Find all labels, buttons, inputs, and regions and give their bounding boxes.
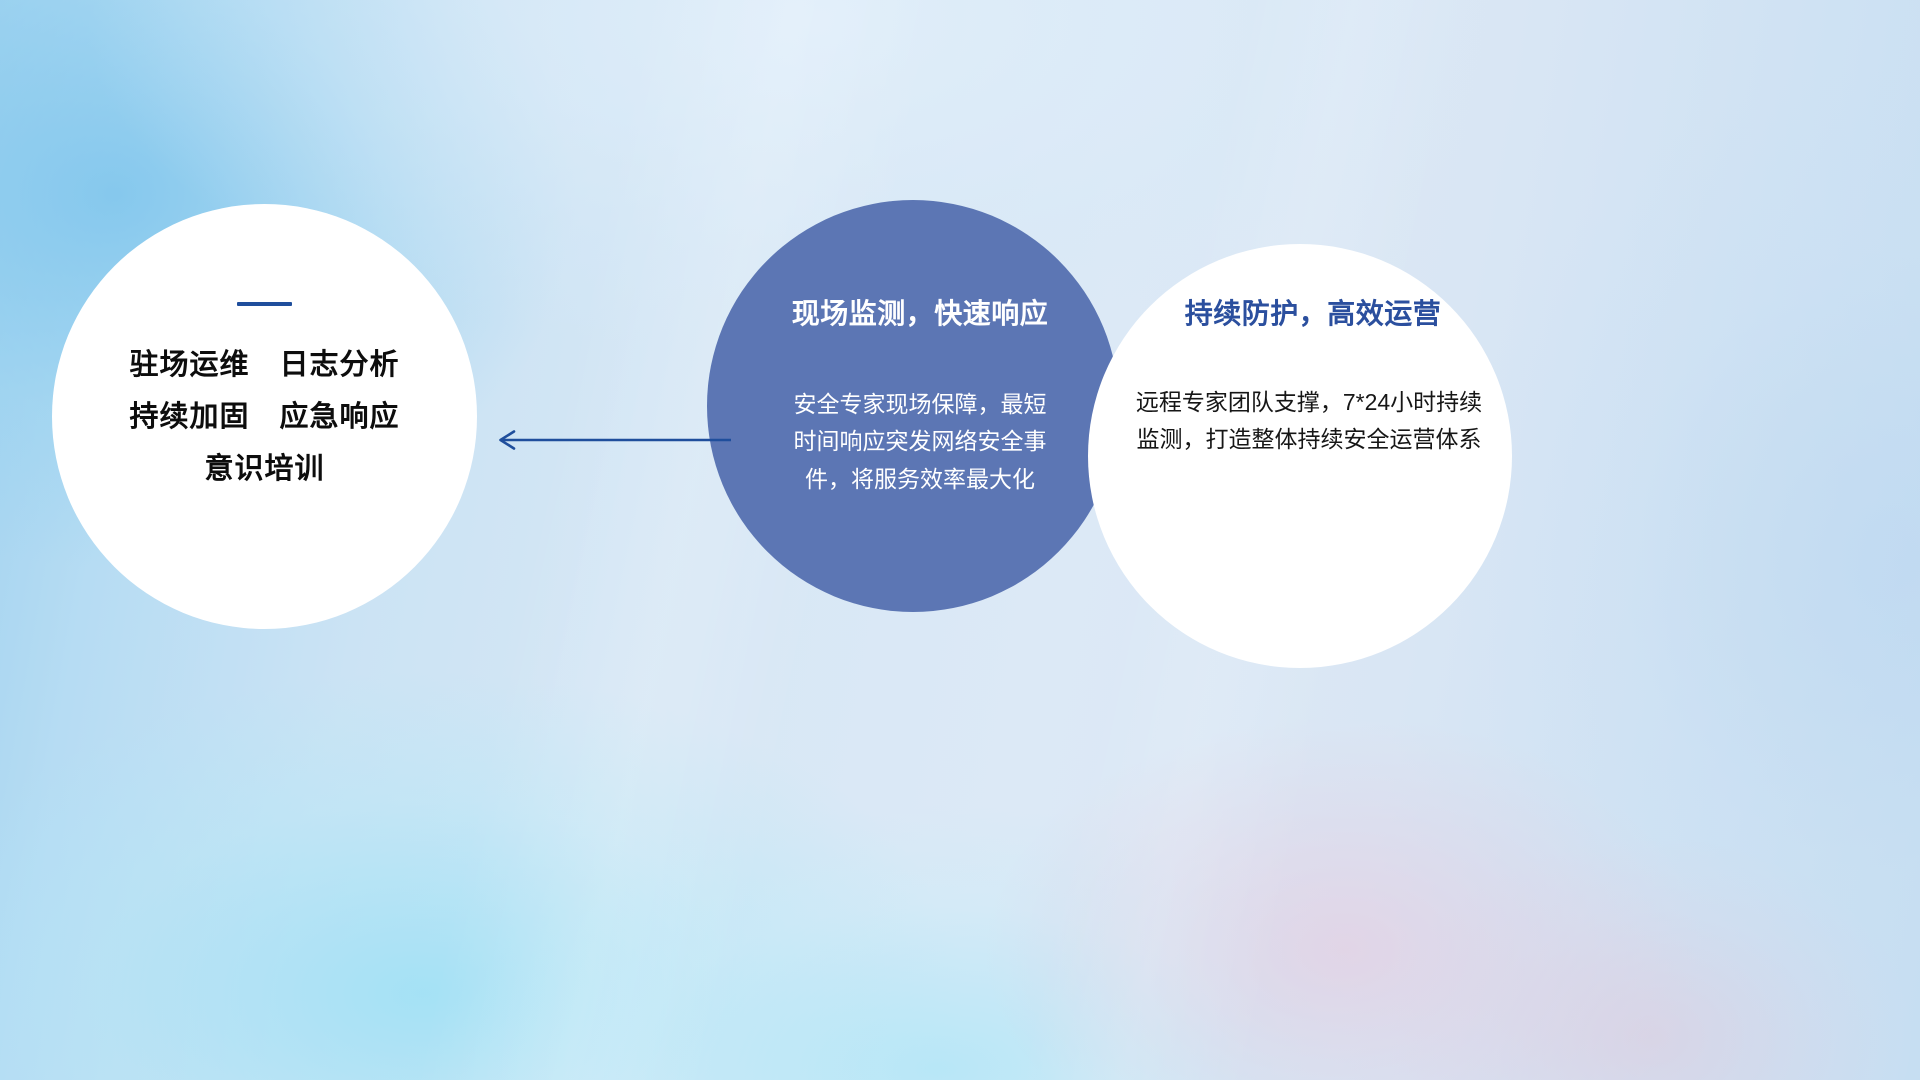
services-line-3: 意识培训 [204,448,324,490]
services-list: 驻场运维 日志分析 持续加固 应急响应 意识培训 [129,344,399,490]
onsite-monitoring-title: 现场监测，快速响应 [792,292,1049,332]
continuous-protection-body: 远程专家团队支撑，7*24小时持续监测，打造整体持续安全运营体系 [1133,384,1485,459]
continuous-protection-title: 持续防护，高效运营 [1185,292,1442,332]
slide-canvas: 驻场运维 日志分析 持续加固 应急响应 意识培训 现场监测，快速响应 安全专家现… [0,0,1920,1080]
continuous-protection-circle-content: 持续防护，高效运营 远程专家团队支撑，7*24小时持续监测，打造整体持续安全运营… [1088,244,1512,668]
left-pointing-arrow [487,425,732,455]
onsite-monitoring-circle-content: 现场监测，快速响应 安全专家现场保障，最短时间响应突发网络安全事件，将服务效率最… [707,200,1119,612]
services-circle-content: 驻场运维 日志分析 持续加固 应急响应 意识培训 [52,204,477,629]
services-line-2: 持续加固 应急响应 [129,396,399,438]
onsite-monitoring-body: 安全专家现场保障，最短时间响应突发网络安全事件，将服务效率最大化 [791,386,1049,498]
services-line-1: 驻场运维 日志分析 [129,344,399,386]
divider-dash-icon [237,302,292,306]
